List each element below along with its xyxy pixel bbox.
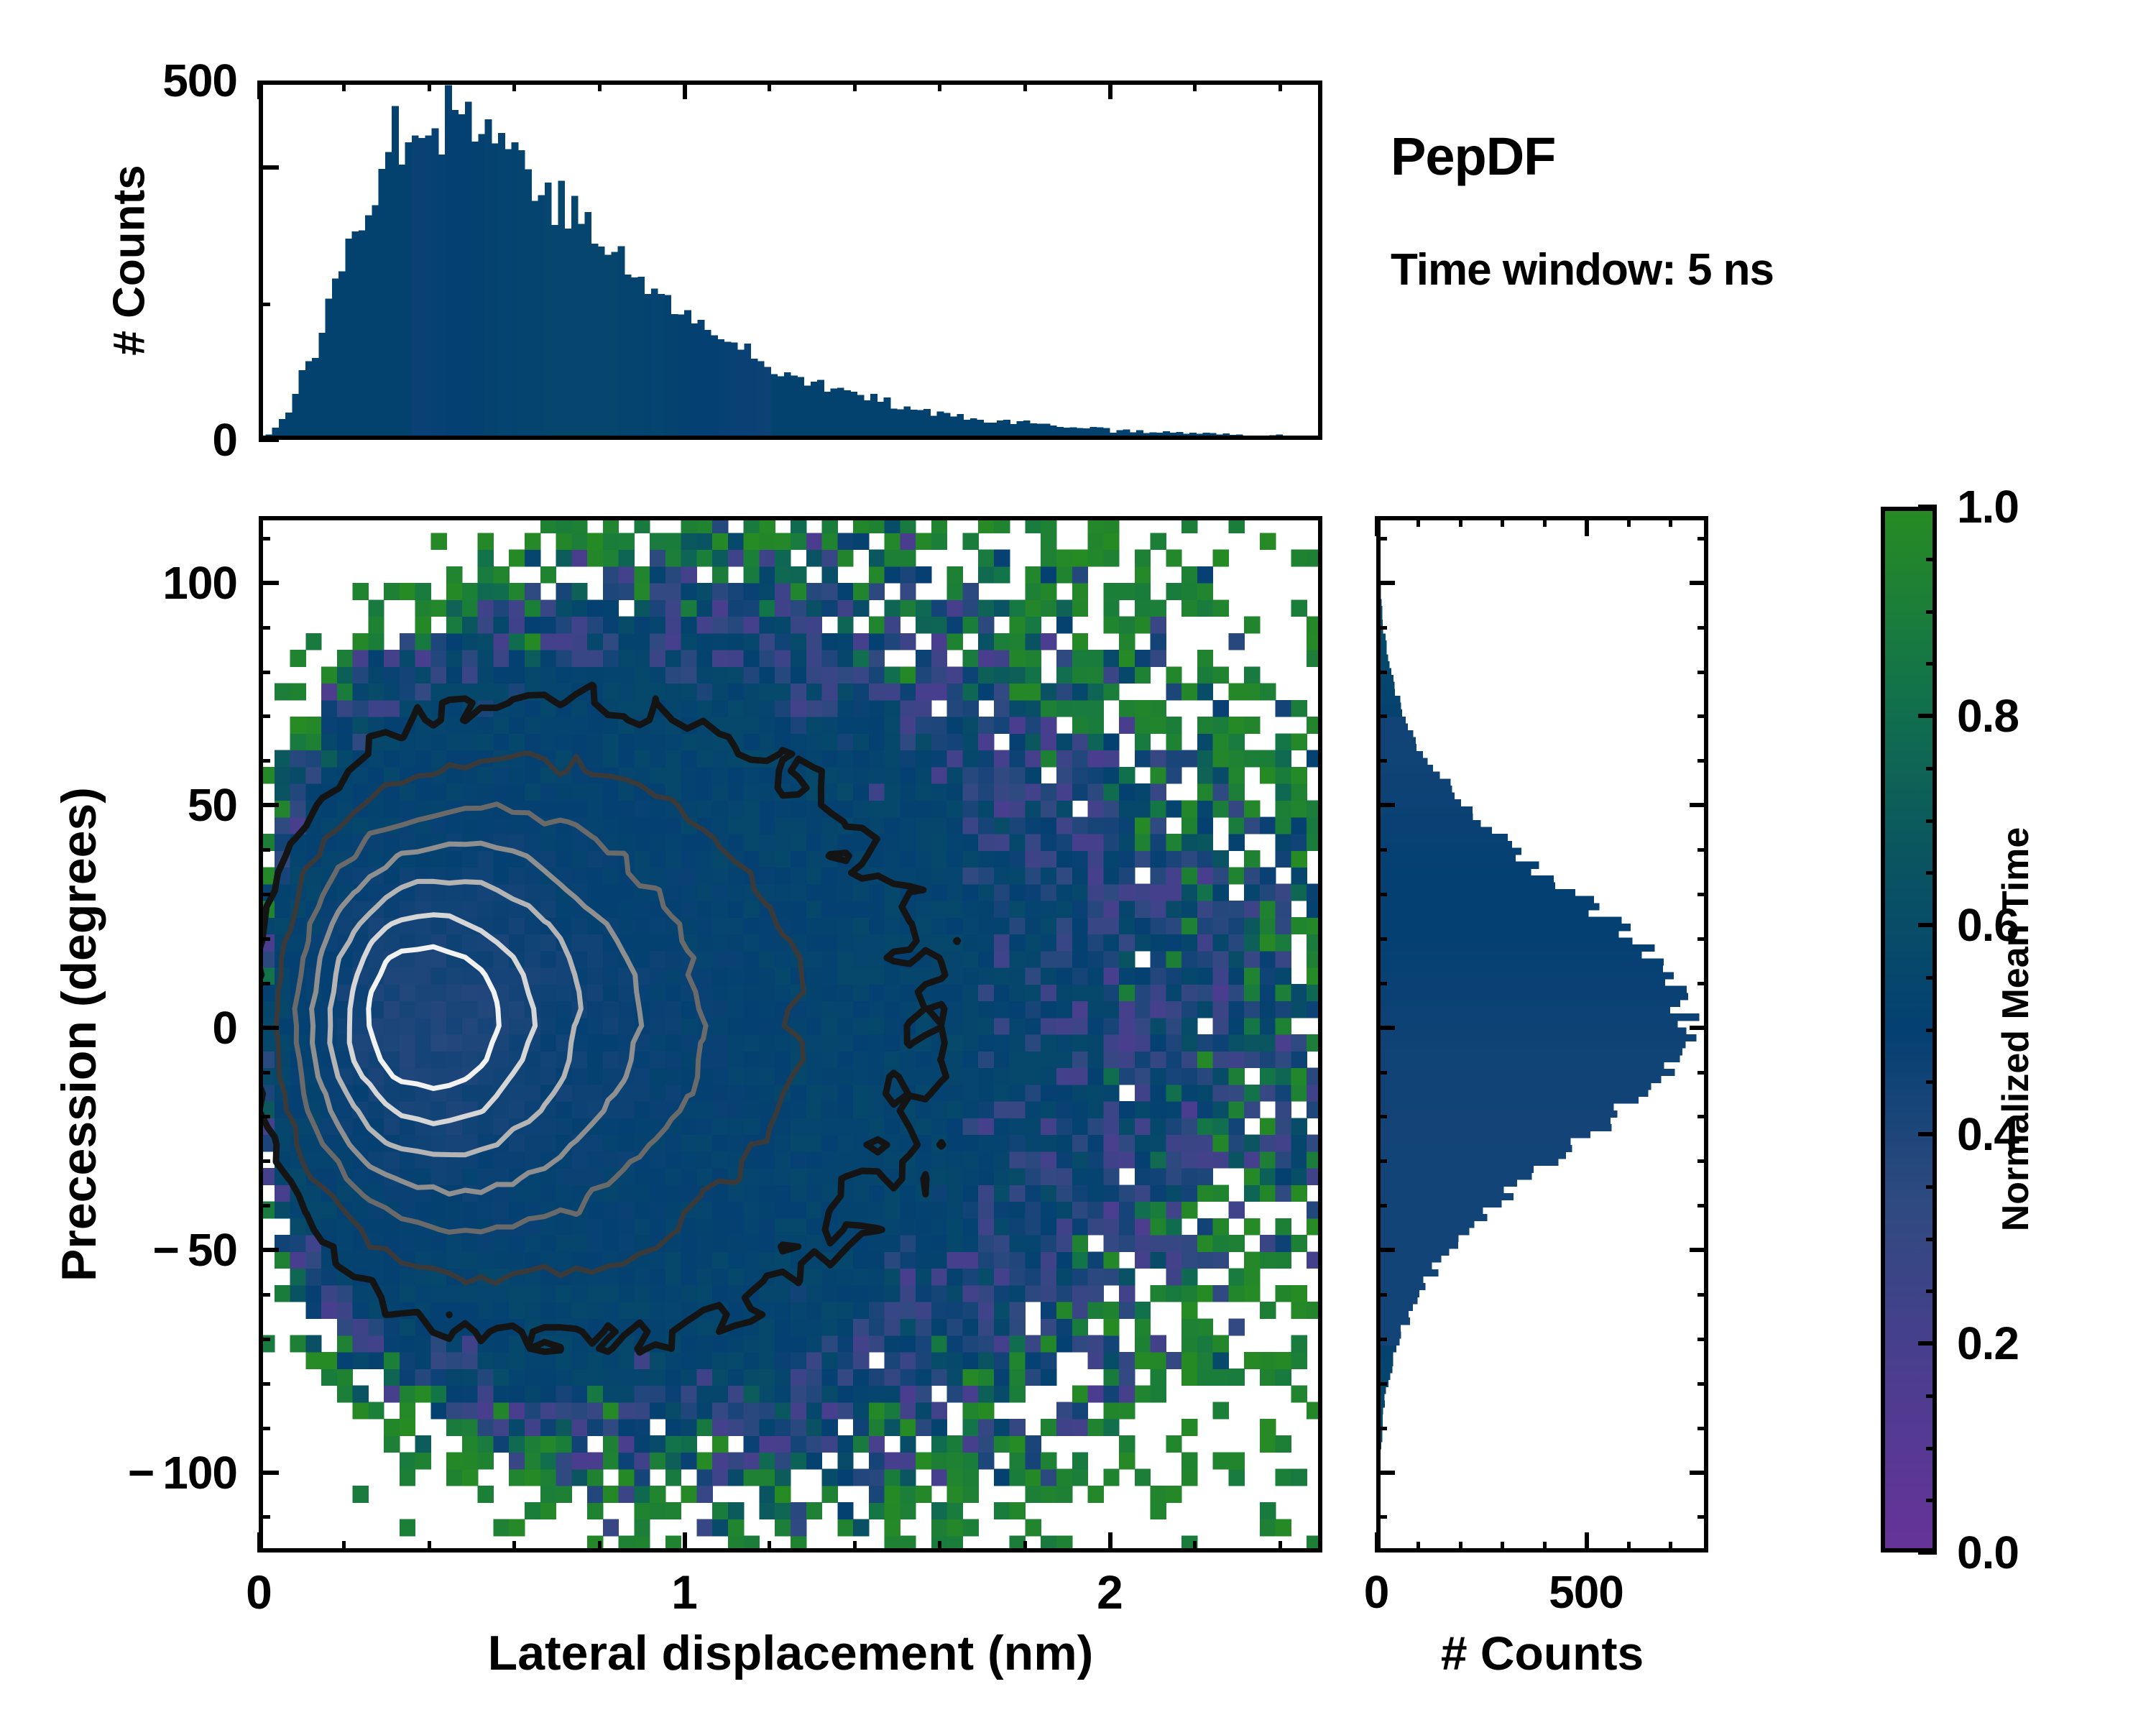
right-hist-xtick-500: 500 <box>1549 1565 1623 1619</box>
colorbar-minor-tick <box>1926 558 1937 561</box>
main-xtick-label: 0 <box>246 1565 272 1619</box>
colorbar-tick-label: 0.8 <box>1957 689 2019 742</box>
colorbar-minor-tick <box>1926 1029 1937 1032</box>
figure-canvas: 500 0 # Counts 100500− 50− 100 Precessio… <box>0 0 2156 1725</box>
colorbar-minor-tick <box>1926 819 1937 823</box>
main-ytick-label: − 100 <box>128 1446 237 1499</box>
colorbar-major-tick <box>1918 505 1937 509</box>
colorbar-minor-tick <box>1926 1499 1937 1502</box>
right-hist-xtick-0: 0 <box>1364 1565 1389 1619</box>
colorbar <box>1881 507 1937 1552</box>
main-ytick-label: 100 <box>162 556 237 609</box>
main-heatmap-plot <box>259 516 1322 1552</box>
colorbar-minor-tick <box>1926 1080 1937 1084</box>
colorbar-major-tick <box>1918 1341 1937 1345</box>
colorbar-minor-tick <box>1926 1238 1937 1241</box>
figure-subtitle: Time window: 5 ns <box>1391 244 1774 295</box>
colorbar-minor-tick <box>1926 871 1937 875</box>
top-hist-ytick-0: 0 <box>212 413 237 466</box>
main-heatmap-panel <box>259 516 1322 1552</box>
colorbar-tick-label: 0.2 <box>1957 1317 2019 1370</box>
colorbar-minor-tick <box>1926 767 1937 770</box>
colorbar-minor-tick <box>1926 1185 1937 1189</box>
colorbar-tick-label: 1.0 <box>1957 480 2019 533</box>
right-hist-xlabel: # Counts <box>1441 1626 1644 1680</box>
main-ylabel: Precession (degrees) <box>51 787 107 1282</box>
colorbar-tick-label: 0.0 <box>1957 1526 2019 1579</box>
main-xlabel: Lateral displacement (nm) <box>488 1625 1094 1681</box>
right-histogram-panel <box>1376 516 1708 1552</box>
right-histogram-plot <box>1376 516 1708 1552</box>
main-ytick-label: 0 <box>212 1001 237 1054</box>
colorbar-minor-tick <box>1926 976 1937 980</box>
colorbar-major-tick <box>1918 714 1937 718</box>
top-hist-ytick-500: 500 <box>162 54 237 107</box>
colorbar-major-tick <box>1918 1550 1937 1555</box>
colorbar-major-tick <box>1918 923 1937 927</box>
top-histogram-panel <box>259 80 1322 440</box>
colorbar-minor-tick <box>1926 1394 1937 1398</box>
top-hist-ylabel: # Counts <box>104 165 155 355</box>
colorbar-minor-tick <box>1926 610 1937 614</box>
colorbar-major-tick <box>1918 1132 1937 1136</box>
main-ytick-label: 50 <box>188 778 237 832</box>
main-xtick-label: 2 <box>1097 1565 1123 1619</box>
colorbar-minor-tick <box>1926 1447 1937 1450</box>
main-xtick-label: 1 <box>671 1565 697 1619</box>
colorbar-axis-label: Normalized Mean Time <box>1994 827 2037 1232</box>
main-ytick-label: − 50 <box>153 1223 237 1276</box>
colorbar-minor-tick <box>1926 662 1937 666</box>
figure-title: PepDF <box>1391 126 1555 187</box>
colorbar-minor-tick <box>1926 1289 1937 1293</box>
top-histogram-plot <box>259 80 1322 440</box>
